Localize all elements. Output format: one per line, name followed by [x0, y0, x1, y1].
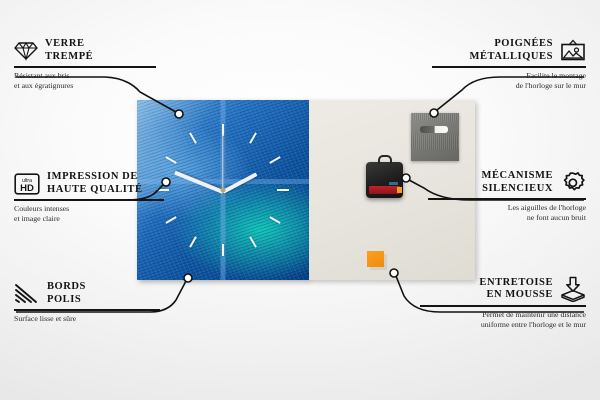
callout-header: ENTRETOISE EN MOUSSE	[420, 276, 586, 302]
callout-mecanisme-silencieux: MÉCANISME SILENCIEUX Les aiguilles de l'…	[428, 170, 586, 223]
picture-frame-hanger-icon	[560, 39, 586, 63]
product-image	[137, 100, 475, 280]
foam-spacer-arrow-icon	[560, 276, 586, 302]
ultra-hd-icon: ultra HD	[14, 173, 40, 195]
callout-subtitle-line1: Couleurs intenses	[14, 204, 164, 214]
callout-title: MÉCANISME SILENCIEUX	[482, 170, 553, 195]
callout-header: ultra HD IMPRESSION DE HAUTE QUALITÉ	[14, 171, 164, 196]
polished-edge-icon	[14, 283, 40, 305]
callout-divider	[14, 199, 164, 201]
callout-subtitle-line2: de l'horloge sur le mur	[432, 81, 586, 91]
callout-subtitle-line1: Permet de maintenir une distance	[420, 310, 586, 320]
svg-text:HD: HD	[20, 183, 34, 194]
clock-center-pin	[221, 188, 226, 193]
callout-header: POIGNÉES MÉTALLIQUES	[432, 38, 586, 63]
movement-hanger-hook	[378, 155, 392, 164]
metal-hanger-plate	[411, 113, 459, 161]
callout-verre-trempe: VERRE TREMPÉ Résistant aux bris et aux é…	[14, 38, 156, 91]
diamond-icon	[14, 41, 38, 61]
movement-chip	[389, 182, 398, 185]
callout-title: VERRE TREMPÉ	[45, 38, 93, 63]
callout-subtitle-line2: et image claire	[14, 214, 164, 224]
gear-icon	[560, 171, 586, 195]
hour-tick	[165, 189, 223, 224]
callout-title: ENTRETOISE EN MOUSSE	[479, 277, 553, 302]
callout-impression-haute-qualite: ultra HD IMPRESSION DE HAUTE QUALITÉ Cou…	[14, 171, 164, 224]
infographic-canvas: VERRE TREMPÉ Résistant aux bris et aux é…	[0, 0, 600, 400]
foam-spacer	[367, 251, 384, 267]
callout-subtitle-line2: et aux égratignures	[14, 81, 156, 91]
callout-subtitle-line1: Surface lisse et sûre	[14, 314, 160, 324]
callout-divider	[428, 198, 586, 200]
callout-poignees-metalliques: POIGNÉES MÉTALLIQUES Facilite le montage…	[432, 38, 586, 91]
aa-battery	[369, 186, 400, 194]
callout-divider	[14, 309, 160, 311]
callout-header: BORDS POLIS	[14, 281, 160, 306]
callout-bords-polis: BORDS POLIS Surface lisse et sûre	[14, 281, 160, 324]
callout-header: MÉCANISME SILENCIEUX	[428, 170, 586, 195]
callout-subtitle-line2: ne font aucun bruit	[428, 213, 586, 223]
callout-entretoise-en-mousse: ENTRETOISE EN MOUSSE Permet de maintenir…	[420, 276, 586, 330]
callout-header: VERRE TREMPÉ	[14, 38, 156, 63]
callout-subtitle-line1: Facilite le montage	[432, 71, 586, 81]
hour-tick	[223, 189, 289, 191]
callout-divider	[432, 66, 586, 68]
callout-title: POIGNÉES MÉTALLIQUES	[470, 38, 553, 63]
quartz-movement	[366, 162, 403, 198]
callout-subtitle-line1: Les aiguilles de l'horloge	[428, 203, 586, 213]
callout-subtitle-line1: Résistant aux bris	[14, 71, 156, 81]
hanger-keyhole-slot	[420, 126, 448, 133]
callout-divider	[420, 305, 586, 307]
callout-title: BORDS POLIS	[47, 281, 86, 306]
callout-divider	[14, 66, 156, 68]
callout-title: IMPRESSION DE HAUTE QUALITÉ	[47, 171, 143, 196]
hour-tick	[222, 190, 224, 256]
callout-subtitle-line2: uniforme entre l'horloge et le mur	[420, 320, 586, 330]
